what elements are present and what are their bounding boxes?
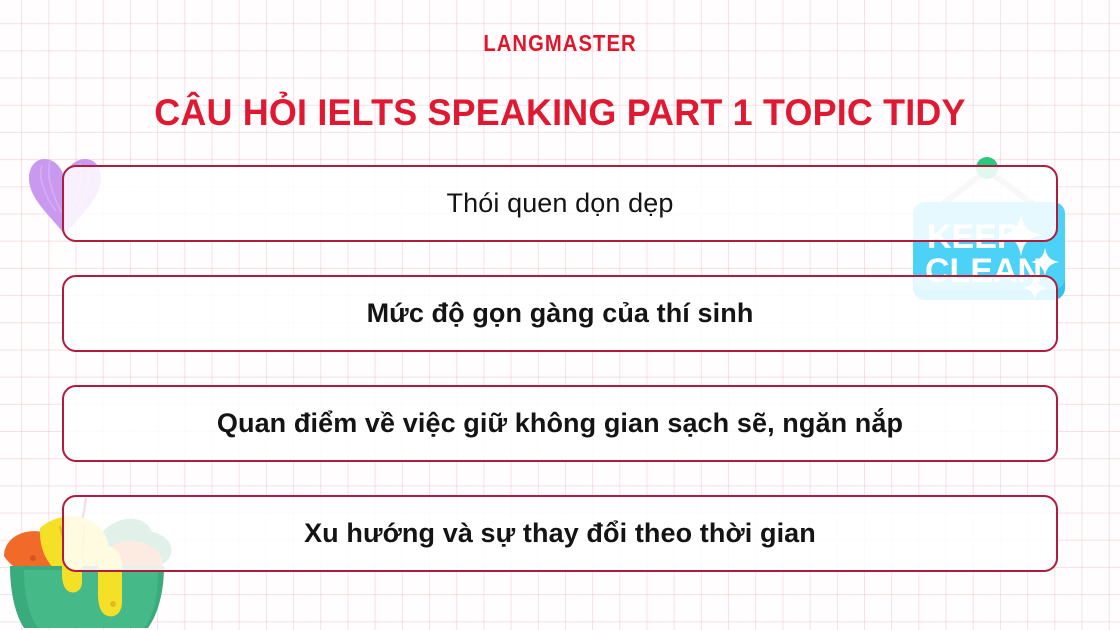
topic-card[interactable]: Mức độ gọn gàng của thí sinh <box>62 275 1058 352</box>
topic-card[interactable]: Xu hướng và sự thay đổi theo thời gian <box>62 495 1058 572</box>
langmaster-logo: LANGMASTER <box>67 30 1053 57</box>
topic-card[interactable]: Quan điểm về việc giữ không gian sạch sẽ… <box>62 385 1058 462</box>
topic-card-label: Xu hướng và sự thay đổi theo thời gian <box>304 518 816 549</box>
topic-card-label: Quan điểm về việc giữ không gian sạch sẽ… <box>217 408 903 439</box>
topic-card-label: Mức độ gọn gàng của thí sinh <box>367 298 754 329</box>
topic-card[interactable]: Thói quen dọn dẹp <box>62 165 1058 242</box>
page-title: CÂU HỎI IELTS SPEAKING PART 1 TOPIC TIDY <box>17 92 1103 134</box>
topic-card-label: Thói quen dọn dẹp <box>447 188 674 219</box>
slide-canvas: LANGMASTER CÂU HỎI IELTS SPEAKING PART 1… <box>0 0 1120 630</box>
